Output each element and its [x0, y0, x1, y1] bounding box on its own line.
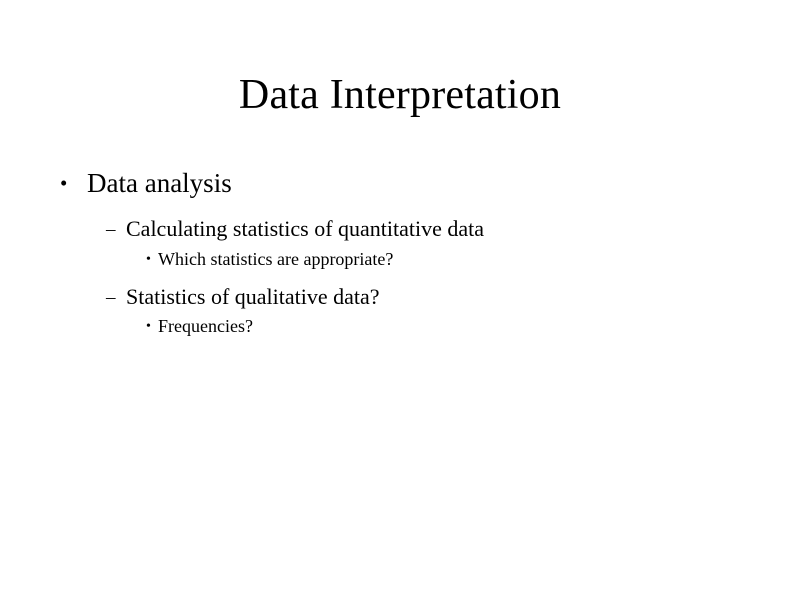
- outline-item-text: Statistics of qualitative data?: [126, 283, 380, 312]
- bullet-dash-icon: –: [106, 286, 126, 311]
- outline-item-text: Frequencies?: [158, 315, 253, 339]
- slide-body-outline: • Data analysis – Calculating statistics…: [60, 166, 760, 344]
- outline-item-text: Which statistics are appropriate?: [158, 248, 393, 272]
- presentation-slide: Data Interpretation • Data analysis – Ca…: [0, 0, 800, 600]
- bullet-dot-small-icon: •: [146, 251, 158, 269]
- outline-item-level3: • Frequencies?: [146, 315, 760, 339]
- outline-spacer: [60, 207, 760, 215]
- bullet-dot-small-icon: •: [146, 318, 158, 336]
- outline-item-text: Data analysis: [87, 166, 232, 201]
- outline-item-level2: – Calculating statistics of quantitative…: [106, 215, 760, 244]
- outline-item-level3: • Which statistics are appropriate?: [146, 248, 760, 272]
- bullet-dash-icon: –: [106, 218, 126, 243]
- outline-item-level2: – Statistics of qualitative data?: [106, 283, 760, 312]
- outline-item-level1: • Data analysis: [60, 166, 760, 201]
- outline-item-text: Calculating statistics of quantitative d…: [126, 215, 484, 244]
- bullet-dot-icon: •: [60, 170, 87, 197]
- slide-title: Data Interpretation: [0, 72, 800, 119]
